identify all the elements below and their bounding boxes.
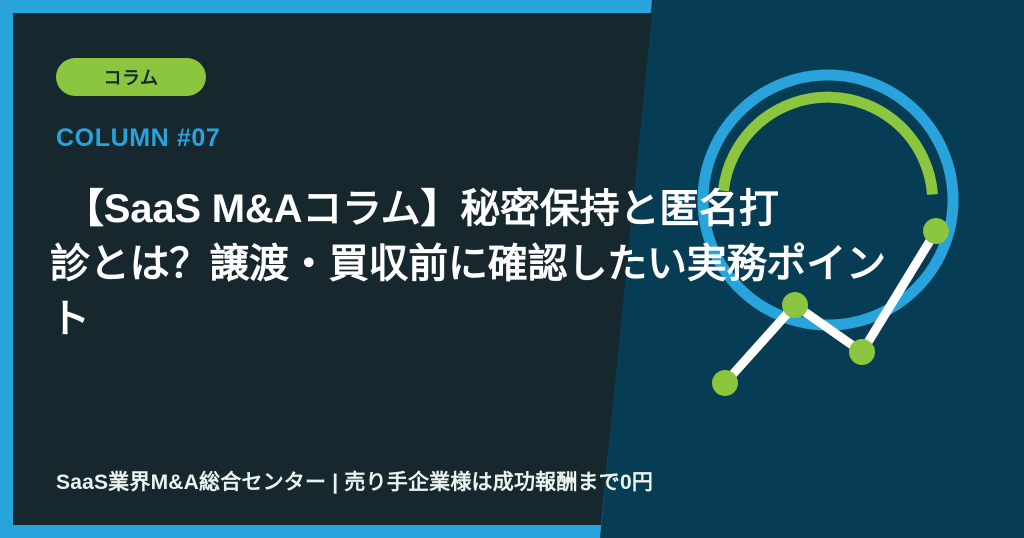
footer-brand-line: SaaS業界M&A総合センター | 売り手企業様は成功報酬まで0円: [56, 466, 653, 496]
category-badge-label: コラム: [104, 64, 159, 90]
category-badge: コラム: [56, 58, 206, 96]
page-title-line-3: ト: [50, 292, 1010, 347]
column-thumbnail-card: コラム COLUMN #07 【SaaS M&Aコラム】秘密保持と匿名打 診とは…: [0, 0, 1024, 538]
column-number-label: COLUMN #07: [56, 124, 220, 153]
page-title-line-2: 診とは？譲渡・買収前に確認したい実務ポイン: [50, 237, 1010, 292]
page-title: 【SaaS M&Aコラム】秘密保持と匿名打 診とは？譲渡・買収前に確認したい実務…: [50, 182, 1010, 347]
content-layer: コラム COLUMN #07 【SaaS M&Aコラム】秘密保持と匿名打 診とは…: [0, 0, 1024, 538]
page-title-line-1: 【SaaS M&Aコラム】秘密保持と匿名打: [50, 182, 1010, 237]
